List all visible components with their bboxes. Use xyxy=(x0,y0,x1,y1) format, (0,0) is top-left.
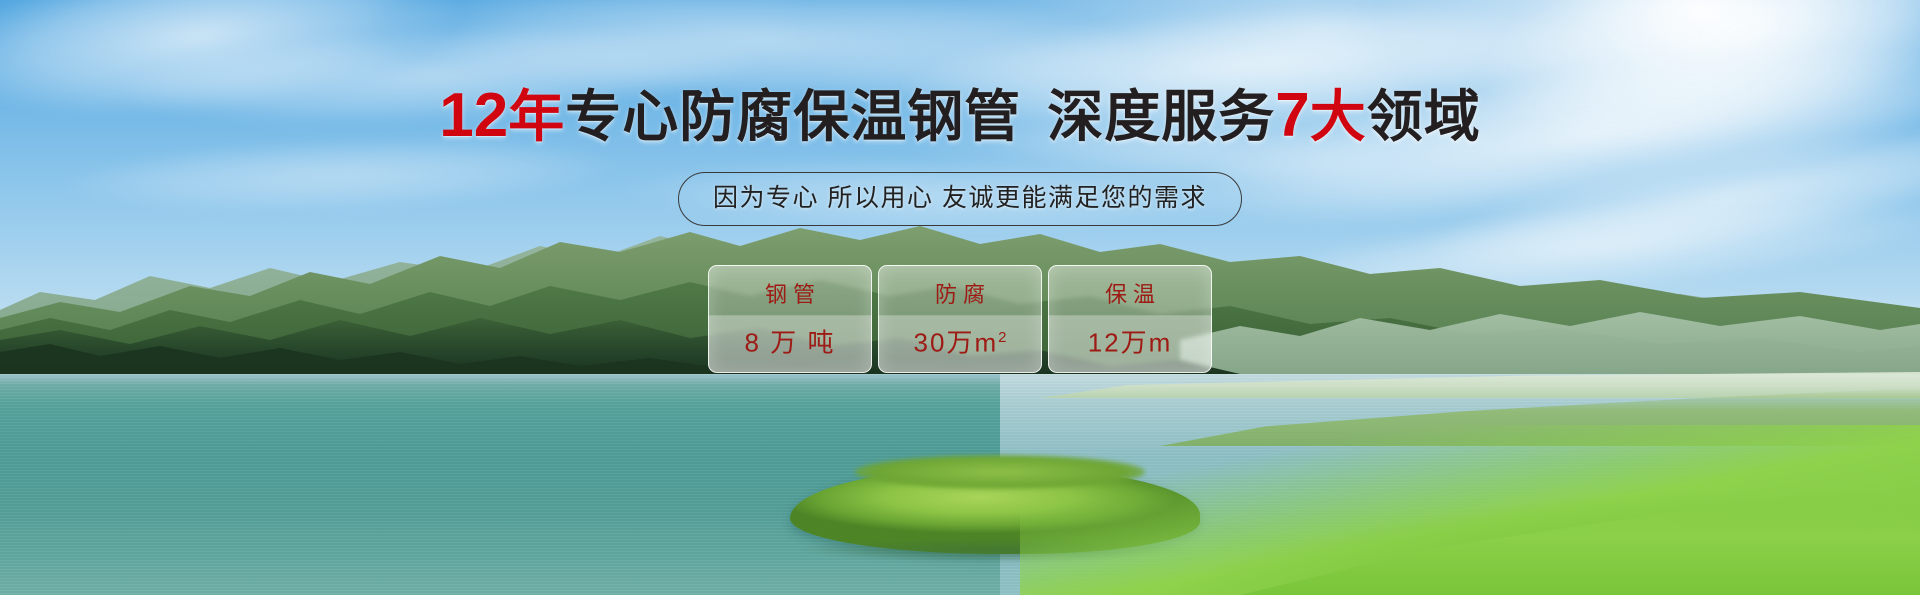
stat-cards: 钢管 8 万 吨 防腐 30万m2 保温 12万m xyxy=(0,265,1920,373)
stat-card-anticorrosion: 防腐 30万m2 xyxy=(878,265,1042,373)
headline-years-number: 12 xyxy=(439,81,508,150)
subtitle-container: 因为专心 所以用心 友诚更能满足您的需求 xyxy=(0,172,1920,226)
stat-card-insulation: 保温 12万m xyxy=(1048,265,1212,373)
stat-card-value-sup: 2 xyxy=(998,329,1006,346)
headline-phrase-right-post: 领域 xyxy=(1367,85,1481,148)
hero-banner: 12年专心防腐保温钢管深度服务7大领域 因为专心 所以用心 友诚更能满足您的需求… xyxy=(0,0,1920,595)
stat-card-steel-pipe: 钢管 8 万 吨 xyxy=(708,265,872,373)
subtitle-pill: 因为专心 所以用心 友诚更能满足您的需求 xyxy=(678,172,1242,226)
headline-years-unit: 年 xyxy=(508,85,565,148)
stat-card-value-text: 8 万 吨 xyxy=(745,327,836,357)
headline-highlight-word: 大 xyxy=(1310,85,1367,148)
stat-card-value: 12万m xyxy=(1088,322,1173,359)
headline-phrase-left: 专心防腐保温钢管 xyxy=(565,85,1021,148)
stat-card-value-text: 12万m xyxy=(1088,327,1173,357)
stat-card-label: 防腐 xyxy=(929,280,991,310)
stat-card-value: 8 万 吨 xyxy=(745,322,836,359)
stat-card-label: 钢管 xyxy=(759,280,821,310)
headline-highlight-number: 7 xyxy=(1275,81,1309,150)
stat-card-value-text: 30万m xyxy=(914,327,999,357)
stat-card-label: 保温 xyxy=(1099,280,1161,310)
headline-phrase-right-pre: 深度服务 xyxy=(1047,85,1275,148)
headline: 12年专心防腐保温钢管深度服务7大领域 xyxy=(0,84,1920,149)
stat-card-value: 30万m2 xyxy=(914,322,1007,359)
